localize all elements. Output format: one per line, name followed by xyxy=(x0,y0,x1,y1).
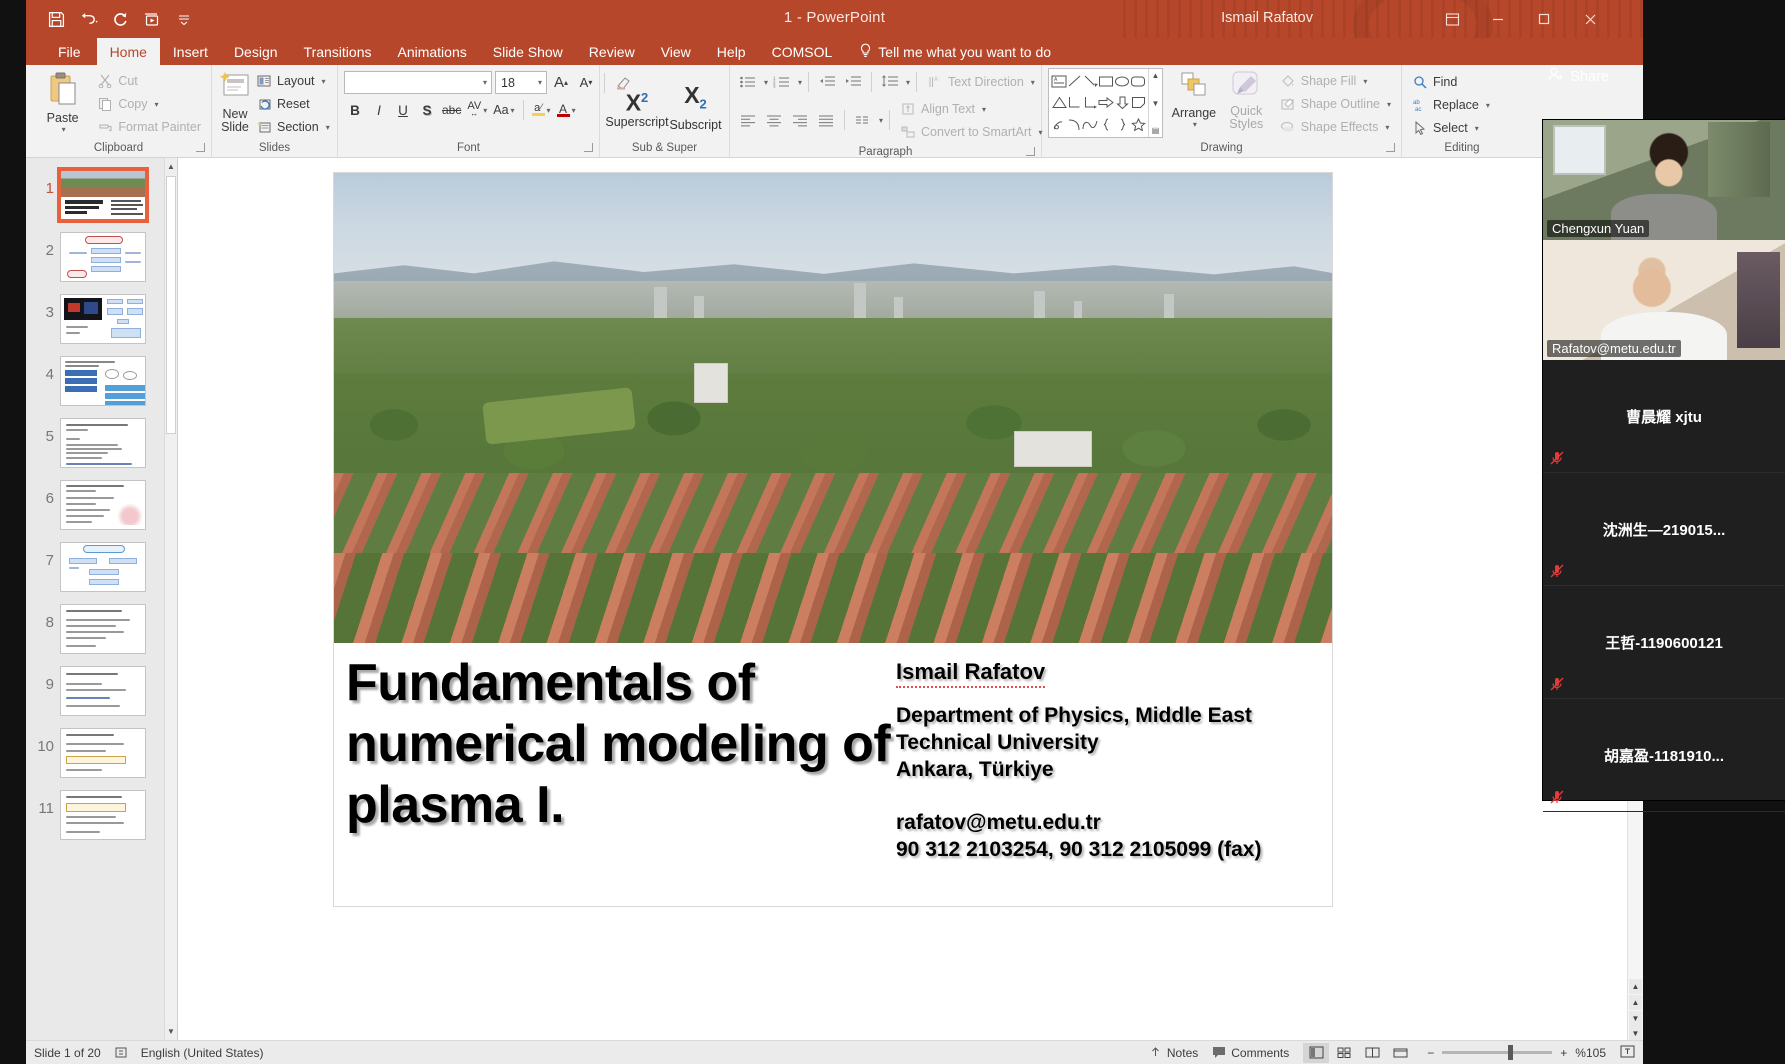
slide-show-button[interactable] xyxy=(1387,1043,1413,1063)
section-button[interactable]: Section ▾ xyxy=(252,116,334,138)
tab-file[interactable]: File xyxy=(42,38,97,65)
video-tile-chengxun-yuan[interactable]: Chengxun Yuan xyxy=(1543,120,1785,240)
canvas-scroll-down-icon[interactable]: ▼ xyxy=(1629,1026,1642,1041)
next-slide-icon[interactable]: ▼ xyxy=(1629,1011,1642,1026)
font-name-combobox[interactable]: ▾ xyxy=(344,71,492,94)
zoom-control[interactable]: − + %105 xyxy=(1427,1046,1606,1060)
find-label: Find xyxy=(1433,75,1457,89)
participant-name: 曹晨耀 xjtu xyxy=(1626,406,1702,427)
shape-curve-icon[interactable] xyxy=(1082,114,1098,135)
shape-arrow-icon[interactable] xyxy=(1082,71,1098,92)
paragraph-separator-2 xyxy=(871,72,872,92)
thumbnail-slide-3[interactable]: 3 xyxy=(26,288,177,350)
slide-contact: rafatov@metu.edu.tr 90 312 2103254, 90 3… xyxy=(896,809,1312,863)
subscript-button[interactable]: X2 Subscript xyxy=(668,82,723,132)
copy-caret-icon[interactable]: ▾ xyxy=(155,100,159,109)
line-spacing-caret-icon[interactable]: ▾ xyxy=(906,78,910,87)
tab-comsol[interactable]: COMSOL xyxy=(759,38,846,65)
video-participant-name: Rafatov@metu.edu.tr xyxy=(1547,340,1681,357)
text-highlight-color-button[interactable]: a⁄ ▾ xyxy=(530,99,553,121)
shape-folded-corner-icon[interactable] xyxy=(1130,92,1146,113)
photo-building-tower xyxy=(694,363,728,403)
ribbon-group-paragraph: ▾ 123 ▾ xyxy=(730,65,1042,158)
ribbon-display-options-icon[interactable] xyxy=(1429,0,1475,38)
shape-effects-button[interactable]: Shape Effects ▾ xyxy=(1276,116,1395,138)
previous-slide-icon[interactable]: ▲ xyxy=(1629,995,1642,1010)
select-caret-icon[interactable]: ▾ xyxy=(1475,124,1479,133)
gallery-down-icon[interactable]: ▼ xyxy=(1152,99,1160,108)
reset-label: Reset xyxy=(277,97,310,111)
change-case-caret-icon[interactable]: ▾ xyxy=(511,106,515,115)
thumbnail-scrollbar[interactable]: ▲ ▼ xyxy=(164,158,177,1040)
align-text-icon xyxy=(900,101,916,117)
font-name-caret-icon[interactable]: ▾ xyxy=(483,78,487,87)
section-icon xyxy=(256,119,272,135)
zoom-in-icon[interactable]: + xyxy=(1560,1046,1567,1060)
shape-fill-icon xyxy=(1280,73,1296,89)
thumbnail-preview xyxy=(60,790,146,840)
copy-button[interactable]: Copy ▾ xyxy=(93,93,205,115)
thumbnail-number: 7 xyxy=(26,542,54,569)
normal-view-button[interactable] xyxy=(1303,1043,1329,1063)
tab-review[interactable]: Review xyxy=(576,38,648,65)
text-shadow-button[interactable]: S xyxy=(416,99,438,121)
quick-styles-label-2: Styles xyxy=(1229,118,1263,131)
text-direction-icon: A xyxy=(927,74,943,90)
layout-button[interactable]: Layout ▾ xyxy=(252,70,334,92)
thumb-scroll-down-icon[interactable]: ▼ xyxy=(165,1023,177,1040)
thumbnail-preview xyxy=(60,604,146,654)
shape-right-arrow-icon[interactable] xyxy=(1098,92,1114,113)
slide-counter[interactable]: Slide 1 of 20 xyxy=(34,1046,101,1060)
close-icon[interactable] xyxy=(1567,0,1613,38)
font-size-combobox[interactable]: 18 ▾ xyxy=(495,71,547,94)
character-spacing-caret-icon[interactable]: ▾ xyxy=(483,106,487,115)
section-label: Section xyxy=(277,120,319,134)
paragraph-dialog-launcher[interactable] xyxy=(1026,147,1035,156)
participant-tile[interactable]: 沈洲生—219015... xyxy=(1543,473,1785,586)
font-color-caret-icon[interactable]: ▾ xyxy=(572,106,576,115)
thumbnail-preview xyxy=(60,170,146,220)
canvas-scroll-up-icon[interactable]: ▲ xyxy=(1629,979,1642,994)
svg-text:ab: ab xyxy=(1413,100,1420,106)
shapes-gallery-scroll[interactable]: ▲ ▼ ▤ xyxy=(1148,69,1162,137)
slide-phone: 90 312 2103254, 90 312 2105099 (fax) xyxy=(896,836,1312,863)
select-label: Select xyxy=(1433,121,1468,135)
tell-me-label: Tell me what you want to do xyxy=(878,44,1051,60)
svg-text:ac: ac xyxy=(1415,107,1421,112)
zoom-slider[interactable] xyxy=(1442,1051,1552,1054)
align-text-label: Align Text xyxy=(921,102,975,116)
layout-caret-icon[interactable]: ▾ xyxy=(322,77,326,86)
shape-fill-button[interactable]: Shape Fill ▾ xyxy=(1276,70,1395,92)
zoom-out-icon[interactable]: − xyxy=(1427,1046,1434,1060)
tab-home[interactable]: Home xyxy=(97,38,160,65)
subscript-glyph: X2 xyxy=(684,82,707,118)
text-direction-caret-icon[interactable]: ▾ xyxy=(1031,78,1035,87)
window-controls xyxy=(1429,0,1613,38)
paragraph-separator-4 xyxy=(844,110,845,130)
participant-list: 曹晨耀 xjtu 沈洲生—219015... 王哲-1190600121 胡嘉盈… xyxy=(1543,360,1785,812)
bullets-caret-icon[interactable]: ▾ xyxy=(764,78,768,87)
slide-editing-surface[interactable]: Fundamentals of numerical modeling of pl… xyxy=(333,172,1333,907)
status-right-group: Notes Comments xyxy=(1149,1043,1635,1063)
tab-help[interactable]: Help xyxy=(704,38,759,65)
paragraph-separator-5 xyxy=(889,110,890,130)
line-spacing-icon[interactable] xyxy=(878,71,902,93)
italic-button[interactable]: I xyxy=(368,99,390,121)
participant-tile[interactable]: 胡嘉盈-1181910... xyxy=(1543,699,1785,812)
shape-line-icon[interactable] xyxy=(1067,71,1082,92)
font-separator-2 xyxy=(523,100,524,120)
group-label-font: Font xyxy=(338,139,599,158)
mic-muted-icon xyxy=(1549,676,1565,692)
slide-affiliation: Department of Physics, Middle East Techn… xyxy=(896,702,1312,783)
convert-to-smartart-button[interactable]: Convert to SmartArt ▾ xyxy=(896,121,1046,143)
mic-muted-icon xyxy=(1549,450,1565,466)
shape-fill-label: Shape Fill xyxy=(1301,74,1357,88)
shape-outline-icon xyxy=(1280,96,1296,112)
slide-thumbnail-pane[interactable]: 1 2 xyxy=(26,158,178,1040)
character-spacing-button[interactable]: AV↔ ▾ xyxy=(465,99,489,121)
ribbon-group-drawing: A xyxy=(1042,65,1402,158)
superscript-glyph: X2 xyxy=(626,85,649,116)
thumbnail-number: 9 xyxy=(26,666,54,693)
minimize-icon[interactable] xyxy=(1475,0,1521,38)
align-right-icon[interactable] xyxy=(788,109,812,131)
reset-icon xyxy=(256,96,272,112)
participant-name: 王哲-1190600121 xyxy=(1605,632,1723,653)
title-bar: 1 - PowerPoint Ismail Rafatov xyxy=(26,0,1643,38)
notes-icon xyxy=(1149,1046,1162,1059)
group-label-slides: Slides xyxy=(212,139,337,158)
shapes-gallery[interactable]: A xyxy=(1048,68,1163,138)
layout-label: Layout xyxy=(277,74,315,88)
new-slide-button[interactable]: New Slide xyxy=(218,69,252,134)
accessibility-icon[interactable] xyxy=(115,1046,129,1060)
cut-label: Cut xyxy=(118,74,137,88)
comment-icon xyxy=(1212,1046,1226,1059)
slide-canvas-area: Fundamentals of numerical modeling of pl… xyxy=(178,158,1643,1040)
slide-title-placeholder[interactable]: Fundamentals of numerical modeling of pl… xyxy=(346,653,891,836)
mic-muted-icon xyxy=(1549,789,1565,805)
svg-text:A: A xyxy=(934,77,938,83)
comments-button[interactable]: Comments xyxy=(1212,1046,1289,1060)
webcam-curtain xyxy=(1737,252,1781,348)
shape-down-arrow-icon[interactable] xyxy=(1114,92,1130,113)
share-label: Share xyxy=(1570,69,1609,85)
font-size-caret-icon[interactable]: ▾ xyxy=(538,78,542,87)
shape-effects-label: Shape Effects xyxy=(1301,120,1379,134)
superscript-button[interactable]: X2 Superscript xyxy=(606,85,668,130)
thumbnail-number: 1 xyxy=(26,170,54,197)
lightbulb-icon xyxy=(859,43,872,61)
thumbnail-number: 10 xyxy=(26,728,54,755)
thumbnail-number: 6 xyxy=(26,480,54,507)
slide-subtitle-placeholder[interactable]: Ismail Rafatov Department of Physics, Mi… xyxy=(896,659,1312,863)
align-text-caret-icon[interactable]: ▾ xyxy=(982,105,986,114)
arrange-label: Arrange xyxy=(1172,107,1216,120)
justify-icon[interactable] xyxy=(814,109,838,131)
tab-insert[interactable]: Insert xyxy=(160,38,221,65)
format-painter-button[interactable]: Format Painter xyxy=(93,116,205,138)
format-painter-icon xyxy=(97,119,113,135)
font-color-button[interactable]: A ▾ xyxy=(555,99,578,121)
shape-effects-icon xyxy=(1280,119,1296,135)
ribbon-group-clipboard: Paste ▾ Cut xyxy=(26,65,212,158)
underline-button[interactable]: U xyxy=(392,99,414,121)
document-title: 1 - PowerPoint xyxy=(26,9,1643,26)
ribbon: Paste ▾ Cut xyxy=(26,65,1643,158)
paste-label: Paste xyxy=(47,112,79,125)
numbering-icon[interactable]: 123 xyxy=(770,71,794,93)
copy-label: Copy xyxy=(118,97,147,111)
shape-outline-caret-icon[interactable]: ▾ xyxy=(1387,100,1391,109)
change-case-button[interactable]: Aa ▾ xyxy=(491,99,516,121)
cursor-icon xyxy=(1412,120,1428,136)
replace-caret-icon[interactable]: ▾ xyxy=(1486,101,1490,110)
mic-muted-icon xyxy=(1549,563,1565,579)
find-button[interactable]: Find xyxy=(1408,71,1494,93)
quick-styles-button[interactable]: Quick Styles xyxy=(1225,68,1268,131)
font-dialog-launcher[interactable] xyxy=(584,143,593,152)
search-icon xyxy=(1412,74,1428,90)
video-participant-name: Chengxun Yuan xyxy=(1547,220,1649,237)
paste-button[interactable]: Paste ▾ xyxy=(32,69,93,134)
subscript-label: Subscript xyxy=(669,118,721,132)
share-button[interactable]: Share xyxy=(1548,67,1609,86)
numbering-caret-icon[interactable]: ▾ xyxy=(798,78,802,87)
thumbnail-slide-10[interactable]: 10 xyxy=(26,722,177,784)
align-center-icon[interactable] xyxy=(762,109,786,131)
thumbnail-slide-4[interactable]: 4 xyxy=(26,350,177,412)
participant-name: 胡嘉盈-1181910... xyxy=(1604,745,1724,766)
format-painter-label: Format Painter xyxy=(118,120,201,134)
scissors-icon xyxy=(97,73,113,89)
columns-caret-icon[interactable]: ▾ xyxy=(879,116,883,125)
thumbnail-preview xyxy=(60,666,146,716)
align-text-button[interactable]: Align Text ▾ xyxy=(896,98,1046,120)
tab-transitions[interactable]: Transitions xyxy=(291,38,385,65)
replace-icon: abac xyxy=(1412,97,1428,113)
ribbon-group-font: ▾ 18 ▾ A▴ A▾ xyxy=(338,65,600,158)
ribbon-tabs: File Home Insert Design Transitions Anim… xyxy=(26,38,1643,65)
notes-button[interactable]: Notes xyxy=(1149,1046,1198,1060)
powerpoint-window: 1 - PowerPoint Ismail Rafatov xyxy=(26,0,1643,1064)
replace-label: Replace xyxy=(1433,98,1479,112)
thumbnail-preview xyxy=(60,542,146,592)
increase-font-size-button[interactable]: A▴ xyxy=(550,72,572,94)
photo-building-block xyxy=(1014,431,1092,467)
thumbnail-slide-1[interactable]: 1 xyxy=(26,164,177,226)
paragraph-separator-3 xyxy=(916,72,917,92)
shape-outline-button[interactable]: Shape Outline ▾ xyxy=(1276,93,1395,115)
shape-oval-icon[interactable] xyxy=(1114,71,1130,92)
shape-arc-icon[interactable] xyxy=(1067,114,1082,135)
group-label-sub-super: Sub & Super xyxy=(600,139,729,158)
thumbnail-number: 8 xyxy=(26,604,54,631)
thumbnail-preview xyxy=(60,294,146,344)
replace-button[interactable]: abac Replace ▾ xyxy=(1408,94,1494,116)
cut-button[interactable]: Cut xyxy=(93,70,205,92)
shape-right-brace-icon[interactable] xyxy=(1114,114,1130,135)
drawing-dialog-launcher[interactable] xyxy=(1386,143,1395,152)
ribbon-group-sub-super: X2 Superscript X2 Subscript Sub & Super xyxy=(600,65,730,158)
thumbnail-number: 4 xyxy=(26,356,54,383)
tab-design[interactable]: Design xyxy=(221,38,291,65)
thumbnail-preview xyxy=(60,480,146,530)
font-size-value: 18 xyxy=(501,76,515,90)
align-left-icon[interactable] xyxy=(736,109,760,131)
thumbnail-slide-9[interactable]: 9 xyxy=(26,660,177,722)
section-caret-icon[interactable]: ▾ xyxy=(326,123,330,132)
bullets-icon[interactable] xyxy=(736,71,760,93)
participant-tile[interactable]: 王哲-1190600121 xyxy=(1543,586,1785,699)
gallery-up-icon[interactable]: ▲ xyxy=(1152,71,1160,80)
shape-outline-label: Shape Outline xyxy=(1301,97,1380,111)
strikethrough-button[interactable]: abc xyxy=(440,99,463,121)
new-slide-icon xyxy=(218,71,252,106)
thumbnail-number: 5 xyxy=(26,418,54,445)
thumbnail-slide-6[interactable]: 6 xyxy=(26,474,177,536)
shape-rectangle-icon[interactable] xyxy=(1098,71,1114,92)
share-person-icon xyxy=(1548,67,1564,86)
slide-sorter-button[interactable] xyxy=(1331,1043,1357,1063)
paragraph-separator-1 xyxy=(808,72,809,92)
select-button[interactable]: Select ▾ xyxy=(1408,117,1494,139)
shape-elbow-arrow-icon[interactable] xyxy=(1082,92,1098,113)
paste-icon xyxy=(46,71,80,110)
thumbnail-slide-2[interactable]: 2 xyxy=(26,226,177,288)
screen: 1 - PowerPoint Ismail Rafatov xyxy=(0,0,1785,1064)
quick-styles-icon xyxy=(1229,70,1263,103)
thumbnail-preview xyxy=(60,356,146,406)
thumbnail-slide-8[interactable]: 8 xyxy=(26,598,177,660)
zoom-percent-label: %105 xyxy=(1575,1046,1606,1060)
smartart-icon xyxy=(900,124,916,140)
video-conference-panel[interactable]: Chengxun Yuan Rafatov@metu.edu.tr 曹晨耀 xj… xyxy=(1543,120,1785,800)
group-label-editing: Editing xyxy=(1402,139,1522,158)
slide-author: Ismail Rafatov xyxy=(896,659,1045,688)
new-slide-label-2: Slide xyxy=(221,121,249,134)
text-direction-button[interactable]: A Text Direction ▾ xyxy=(923,71,1039,93)
convert-to-smartart-label: Convert to SmartArt xyxy=(921,125,1031,139)
zoom-slider-knob[interactable] xyxy=(1508,1045,1513,1060)
decrease-font-size-button[interactable]: A▾ xyxy=(575,72,597,94)
ribbon-group-slides: New Slide Layout ▾ xyxy=(212,65,338,158)
tab-animations[interactable]: Animations xyxy=(384,38,479,65)
svg-text:3: 3 xyxy=(773,84,776,89)
tell-me-box[interactable]: Tell me what you want to do xyxy=(845,38,1051,65)
text-direction-label: Text Direction xyxy=(948,75,1024,89)
decrease-indent-icon[interactable] xyxy=(815,71,839,93)
clipboard-dialog-launcher[interactable] xyxy=(196,143,205,152)
shape-textbox-icon[interactable]: A xyxy=(1051,71,1067,92)
ribbon-group-editing: Find abac Replace ▾ xyxy=(1402,65,1522,158)
fit-slide-to-window-button[interactable] xyxy=(1620,1045,1635,1061)
participant-name: 沈洲生—219015... xyxy=(1603,519,1726,540)
thumbnail-scroll-thumb[interactable] xyxy=(166,176,176,434)
tab-view[interactable]: View xyxy=(648,38,704,65)
work-area: 1 2 xyxy=(26,158,1643,1040)
video-tile-rafatov[interactable]: Rafatov@metu.edu.tr xyxy=(1543,240,1785,360)
bold-button[interactable]: B xyxy=(344,99,366,121)
slide-background-photo[interactable] xyxy=(334,173,1333,643)
participant-tile[interactable]: 曹晨耀 xjtu xyxy=(1543,360,1785,473)
thumbnail-preview xyxy=(60,232,146,282)
thumbnail-slide-5[interactable]: 5 xyxy=(26,412,177,474)
shape-scribble-icon[interactable] xyxy=(1051,114,1067,135)
svg-text:A: A xyxy=(1054,77,1058,83)
webcam-window xyxy=(1553,125,1606,175)
thumb-scroll-up-icon[interactable]: ▲ xyxy=(165,158,177,175)
thumbnail-slide-11[interactable]: 11 xyxy=(26,784,177,846)
shape-triangle-icon[interactable] xyxy=(1051,92,1067,113)
increase-indent-icon[interactable] xyxy=(841,71,865,93)
view-buttons xyxy=(1303,1043,1413,1063)
status-bar: Slide 1 of 20 English (United States) No… xyxy=(26,1040,1643,1064)
reading-view-button[interactable] xyxy=(1359,1043,1385,1063)
account-name: Ismail Rafatov xyxy=(1221,10,1313,26)
maximize-icon[interactable] xyxy=(1521,0,1567,38)
tab-slide-show[interactable]: Slide Show xyxy=(480,38,576,65)
thumbnail-number: 2 xyxy=(26,232,54,259)
paste-caret-icon[interactable]: ▾ xyxy=(62,125,66,134)
shape-effects-caret-icon[interactable]: ▾ xyxy=(1385,123,1389,132)
highlight-caret-icon[interactable]: ▾ xyxy=(547,106,551,115)
thumbnail-slide-7[interactable]: 7 xyxy=(26,536,177,598)
thumbnail-number: 3 xyxy=(26,294,54,321)
group-label-clipboard: Clipboard xyxy=(26,139,211,158)
shape-fill-caret-icon[interactable]: ▾ xyxy=(1363,77,1367,86)
slide-email: rafatov@metu.edu.tr xyxy=(896,809,1312,836)
shape-rounded-rectangle-icon[interactable] xyxy=(1130,71,1146,92)
slide-text-area: Fundamentals of numerical modeling of pl… xyxy=(334,643,1332,906)
group-label-drawing: Drawing xyxy=(1042,139,1401,158)
arrange-button[interactable]: Arrange ▾ xyxy=(1171,68,1217,129)
webcam-curtain xyxy=(1708,122,1771,196)
language-indicator[interactable]: English (United States) xyxy=(141,1046,264,1060)
copy-icon xyxy=(97,96,113,112)
photo-rooftops-front xyxy=(334,553,1333,643)
layout-icon xyxy=(256,73,272,89)
shape-star-icon[interactable] xyxy=(1130,114,1146,135)
arrange-icon xyxy=(1176,70,1212,105)
thumbnail-preview xyxy=(60,418,146,468)
columns-icon[interactable] xyxy=(851,109,875,131)
superscript-label: Superscript xyxy=(605,115,668,129)
gallery-more-icon[interactable]: ▤ xyxy=(1152,126,1160,135)
thumbnail-number: 11 xyxy=(26,790,54,817)
shape-left-brace-icon[interactable] xyxy=(1098,114,1114,135)
reset-button[interactable]: Reset xyxy=(252,93,334,115)
shape-elbow-connector-icon[interactable] xyxy=(1067,92,1082,113)
thumbnail-preview xyxy=(60,728,146,778)
arrange-caret-icon[interactable]: ▾ xyxy=(1193,120,1197,129)
